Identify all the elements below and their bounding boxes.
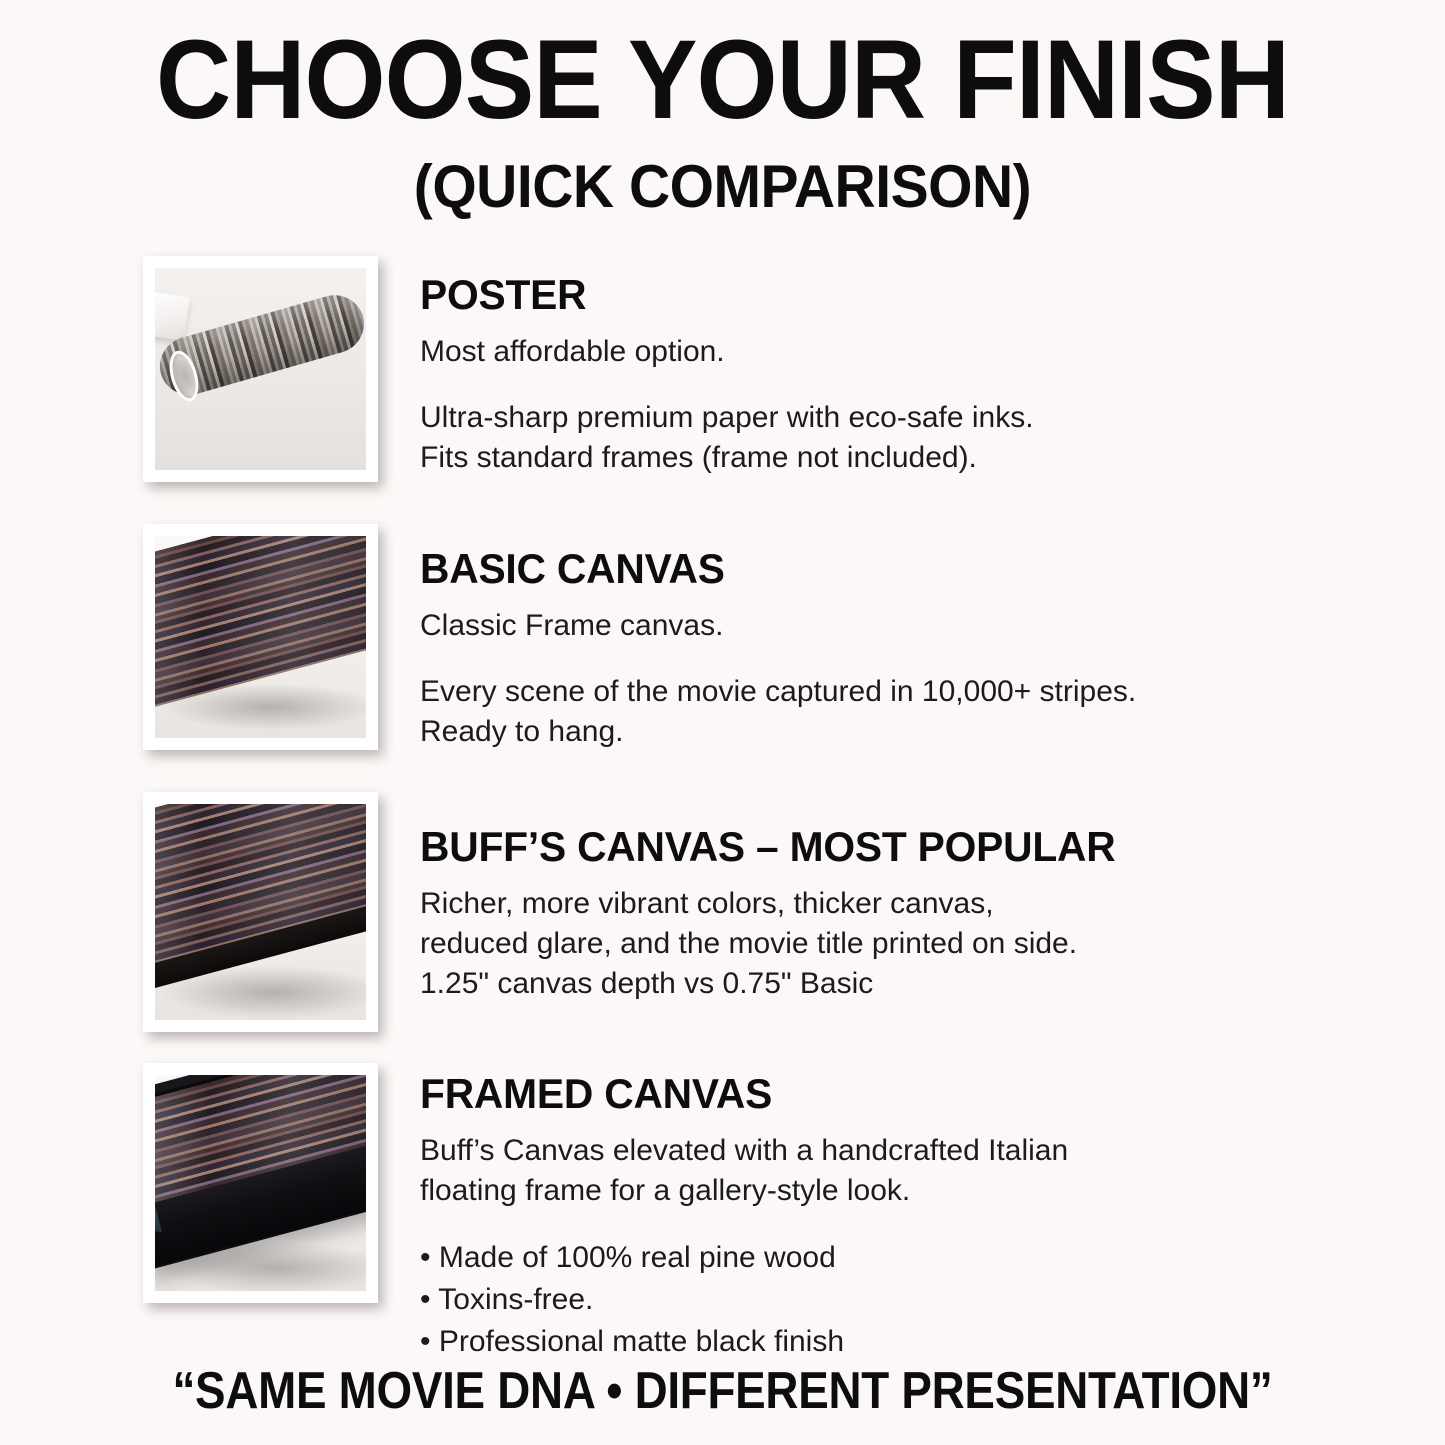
option-bullet-framed-canvas-3: • Professional matte black finish xyxy=(420,1321,1385,1363)
thumbnail-column xyxy=(0,524,420,752)
option-heading-basic-canvas: BASIC CANVAS xyxy=(420,546,1356,592)
text-column: BUFF’S CANVAS – MOST POPULAR Richer, mor… xyxy=(420,792,1445,1004)
text-column: BASIC CANVAS Classic Frame canvas. Every… xyxy=(420,524,1445,752)
footer-tagline: “SAME MOVIE DNA • DIFFERENT PRESENTATION… xyxy=(87,1363,1359,1419)
option-heading-poster: POSTER xyxy=(420,272,1356,318)
option-lead-poster: Most affordable option. xyxy=(420,332,1385,372)
text-column: FRAMED CANVAS Buff’s Canvas elevated wit… xyxy=(420,1063,1445,1363)
option-bullet-framed-canvas-2: • Toxins-free. xyxy=(420,1279,1385,1321)
text-column: POSTER Most affordable option. Ultra-sha… xyxy=(420,256,1445,478)
option-line-buffs-canvas-1: Richer, more vibrant colors, thicker can… xyxy=(420,884,1385,924)
buffs-canvas-photo xyxy=(143,792,378,1032)
rolled-poster-photo xyxy=(143,256,378,482)
option-line-buffs-canvas-3: 1.25" canvas depth vs 0.75" Basic xyxy=(420,964,1385,1004)
option-lead-basic-canvas: Classic Frame canvas. xyxy=(420,606,1385,646)
thumbnail-column xyxy=(0,256,420,478)
header: CHOOSE YOUR FINISH (QUICK COMPARISON) xyxy=(0,0,1445,218)
page-subtitle: (QUICK COMPARISON) xyxy=(36,136,1409,218)
option-row-basic-canvas: BASIC CANVAS Classic Frame canvas. Every… xyxy=(0,524,1445,752)
infographic-page: CHOOSE YOUR FINISH (QUICK COMPARISON) PO… xyxy=(0,0,1445,1445)
canvas-face xyxy=(155,536,366,708)
option-row-poster: POSTER Most affordable option. Ultra-sha… xyxy=(0,256,1445,478)
option-line-poster-1: Ultra-sharp premium paper with eco-safe … xyxy=(420,398,1385,438)
page-title: CHOOSE YOUR FINISH xyxy=(51,0,1395,136)
footer: “SAME MOVIE DNA • DIFFERENT PRESENTATION… xyxy=(0,1363,1445,1419)
option-line-framed-canvas-2: floating frame for a gallery-style look. xyxy=(420,1171,1385,1211)
option-line-basic-canvas-2: Ready to hang. xyxy=(420,712,1385,752)
basic-canvas-photo xyxy=(143,524,378,750)
thumbnail-column xyxy=(0,792,420,1004)
option-row-framed-canvas: FRAMED CANVAS Buff’s Canvas elevated wit… xyxy=(0,1063,1445,1363)
option-line-framed-canvas-1: Buff’s Canvas elevated with a handcrafte… xyxy=(420,1131,1385,1171)
option-bullet-framed-canvas-1: • Made of 100% real pine wood xyxy=(420,1237,1385,1279)
framed-canvas-photo xyxy=(143,1063,378,1303)
option-line-basic-canvas-1: Every scene of the movie captured in 10,… xyxy=(420,672,1385,712)
option-row-buffs-canvas: BUFF’S CANVAS – MOST POPULAR Richer, mor… xyxy=(0,792,1445,1004)
thumbnail-column xyxy=(0,1063,420,1363)
poster-paper-tail xyxy=(155,291,190,340)
option-line-buffs-canvas-2: reduced glare, and the movie title print… xyxy=(420,924,1385,964)
option-line-poster-2: Fits standard frames (frame not included… xyxy=(420,438,1385,478)
option-heading-buffs-canvas: BUFF’S CANVAS – MOST POPULAR xyxy=(420,824,1356,870)
option-heading-framed-canvas: FRAMED CANVAS xyxy=(420,1071,1356,1117)
